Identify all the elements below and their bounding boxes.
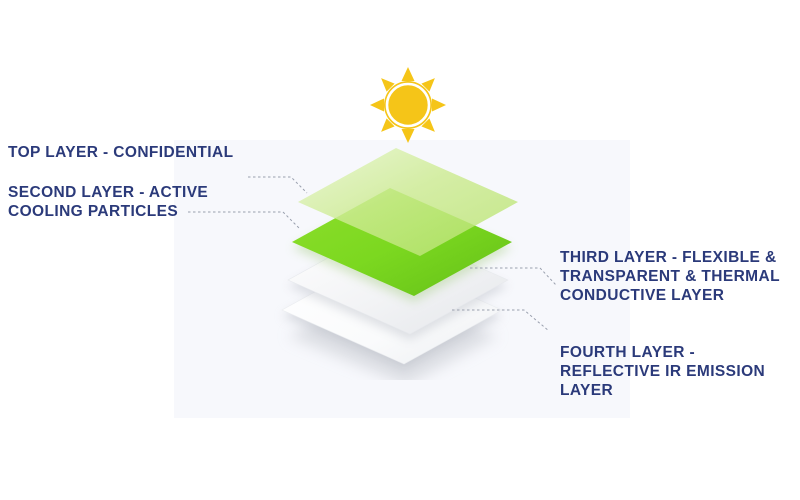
label-top-layer: TOP LAYER - CONFIDENTIAL <box>8 143 233 162</box>
label-second-layer: SECOND LAYER - ACTIVE COOLING PARTICLES <box>8 183 208 221</box>
diagram-canvas: TOP LAYER - CONFIDENTIAL SECOND LAYER - … <box>0 0 800 500</box>
leader-line-third <box>470 268 556 285</box>
label-third-layer: THIRD LAYER - FLEXIBLE & TRANSPARENT & T… <box>560 248 800 305</box>
leader-line-fourth <box>452 310 549 331</box>
leader-line-top <box>248 177 307 193</box>
label-fourth-layer: FOURTH LAYER - REFLECTIVE IR EMISSION LA… <box>560 343 800 400</box>
